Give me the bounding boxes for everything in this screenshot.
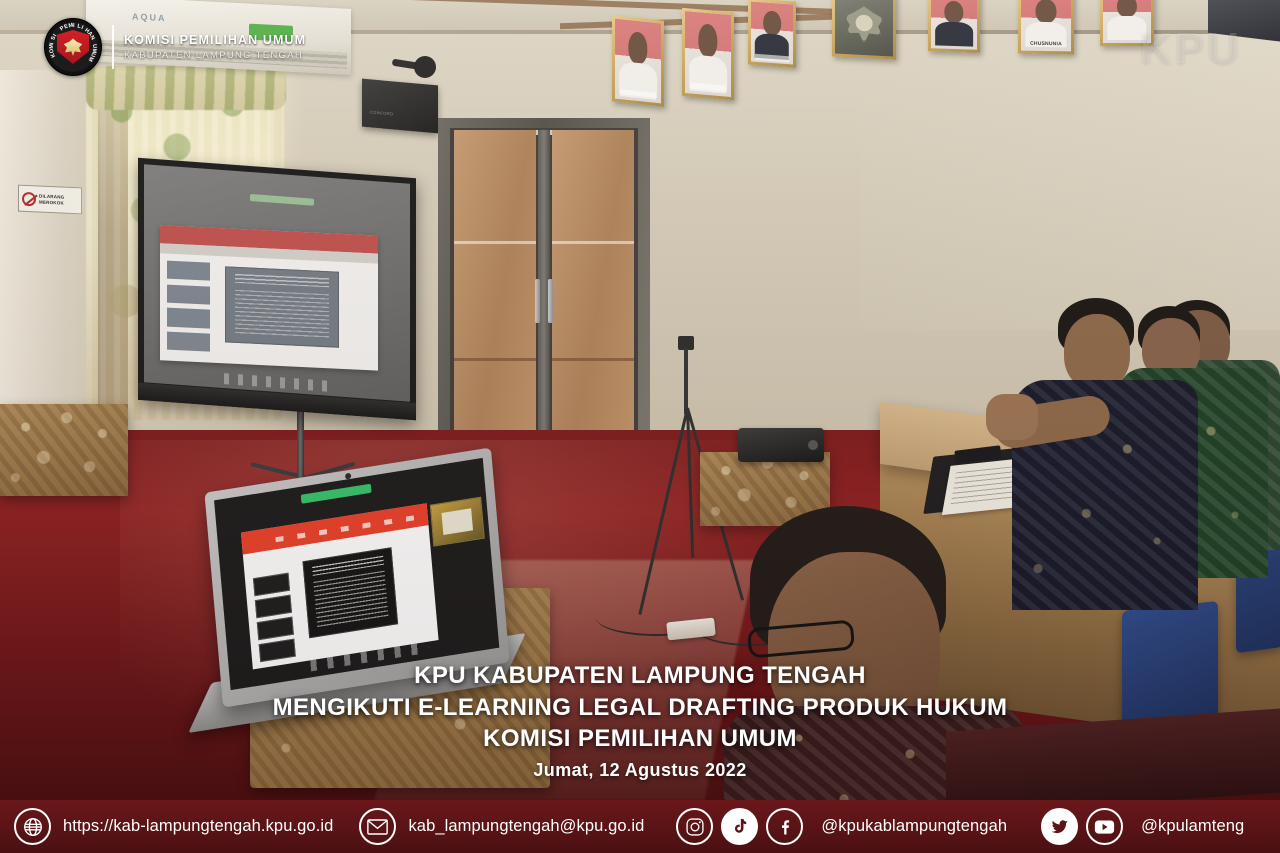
youtube-icon[interactable] xyxy=(1086,808,1123,845)
globe-icon xyxy=(14,808,51,845)
caption-line-3: KOMISI PEMILIHAN UMUM xyxy=(0,723,1280,755)
door-handle xyxy=(548,279,553,323)
garuda-icon xyxy=(63,38,83,56)
speaker-mount-bracket xyxy=(414,56,436,78)
kpu-logo-icon: KOMISI PEMILIHAN UMUM xyxy=(44,18,102,76)
speaker-brand: CONCORD xyxy=(370,109,393,116)
kpu-branding-overlay: KOMISI PEMILIHAN UMUM KOMISI PEMILIHAN U… xyxy=(44,18,306,76)
double-door xyxy=(438,118,650,456)
garuda-emblem-frame xyxy=(832,0,896,60)
tiktok-icon[interactable] xyxy=(721,808,758,845)
caption-line-2: MENGIKUTI E-LEARNING LEGAL DRAFTING PROD… xyxy=(0,692,1280,724)
kpu-watermark: KPU xyxy=(1140,24,1242,74)
caption-date: Jumat, 12 Agustus 2022 xyxy=(0,760,1280,781)
door-handle xyxy=(535,279,540,323)
logo-divider xyxy=(112,25,114,69)
current-slide xyxy=(225,266,338,347)
screen-share-indicator xyxy=(301,483,372,504)
slide-thumbnails xyxy=(166,260,210,351)
instagram-icon[interactable] xyxy=(676,808,713,845)
no-smoking-sign: DILARANG MEROKOK xyxy=(18,185,82,215)
no-smoking-icon xyxy=(22,191,36,206)
projector xyxy=(738,428,824,462)
projected-powerpoint-window xyxy=(160,225,378,370)
no-smoking-line2: MEROKOK xyxy=(39,199,64,206)
video-participant-tile xyxy=(430,497,485,547)
footer-social-group-2: @kpulamteng xyxy=(1041,808,1244,845)
envelope-icon xyxy=(359,808,396,845)
email-address: kab_lampungtengah@kpu.go.id xyxy=(408,817,644,836)
footer-email[interactable]: kab_lampungtengah@kpu.go.id xyxy=(359,808,644,845)
door-leaf-left xyxy=(454,130,537,456)
org-region: KABUPATEN LAMPUNG TENGAH xyxy=(124,50,306,61)
slide-thumbnails xyxy=(253,572,296,662)
laptop-screen xyxy=(214,458,499,690)
side-table xyxy=(0,404,128,496)
social-handle-2: @kpulamteng xyxy=(1141,817,1244,836)
portrait-frame xyxy=(612,15,664,106)
hands xyxy=(986,394,1038,440)
portrait-frame xyxy=(682,8,734,101)
wall-speaker: CONCORD xyxy=(362,79,438,134)
social-handle-1: @kpukablampungtengah xyxy=(821,817,1007,836)
contact-footer: https://kab-lampungtengah.kpu.go.id kab_… xyxy=(0,800,1280,853)
recording-bar xyxy=(250,194,314,206)
footer-website[interactable]: https://kab-lampungtengah.kpu.go.id xyxy=(14,808,333,845)
current-slide xyxy=(302,548,398,639)
projector-lens xyxy=(808,440,818,450)
footer-social-group-1: @kpukablampungtengah xyxy=(676,808,1007,845)
tripod-column xyxy=(684,348,688,414)
website-url: https://kab-lampungtengah.kpu.go.id xyxy=(63,817,333,836)
portrait-frame xyxy=(928,0,980,53)
door-leaf-right xyxy=(552,130,635,456)
taskbar xyxy=(224,373,336,392)
projection-screen xyxy=(138,158,416,420)
projected-image xyxy=(144,164,410,402)
portrait-frame xyxy=(748,0,796,68)
portrait-name: CHUSNUNIA xyxy=(1021,41,1071,48)
portrait-frame-chusnunia: CHUSNUNIA xyxy=(1018,0,1074,54)
facebook-icon[interactable] xyxy=(766,808,803,845)
event-caption: KPU KABUPATEN LAMPUNG TENGAH MENGIKUTI E… xyxy=(0,660,1280,781)
org-name: KOMISI PEMILIHAN UMUM xyxy=(124,33,306,48)
twitter-icon[interactable] xyxy=(1041,808,1078,845)
photo-screenshot: DILARANG MEROKOK AQUA CONCORD xyxy=(0,0,1280,853)
caption-line-1: KPU KABUPATEN LAMPUNG TENGAH xyxy=(0,660,1280,692)
